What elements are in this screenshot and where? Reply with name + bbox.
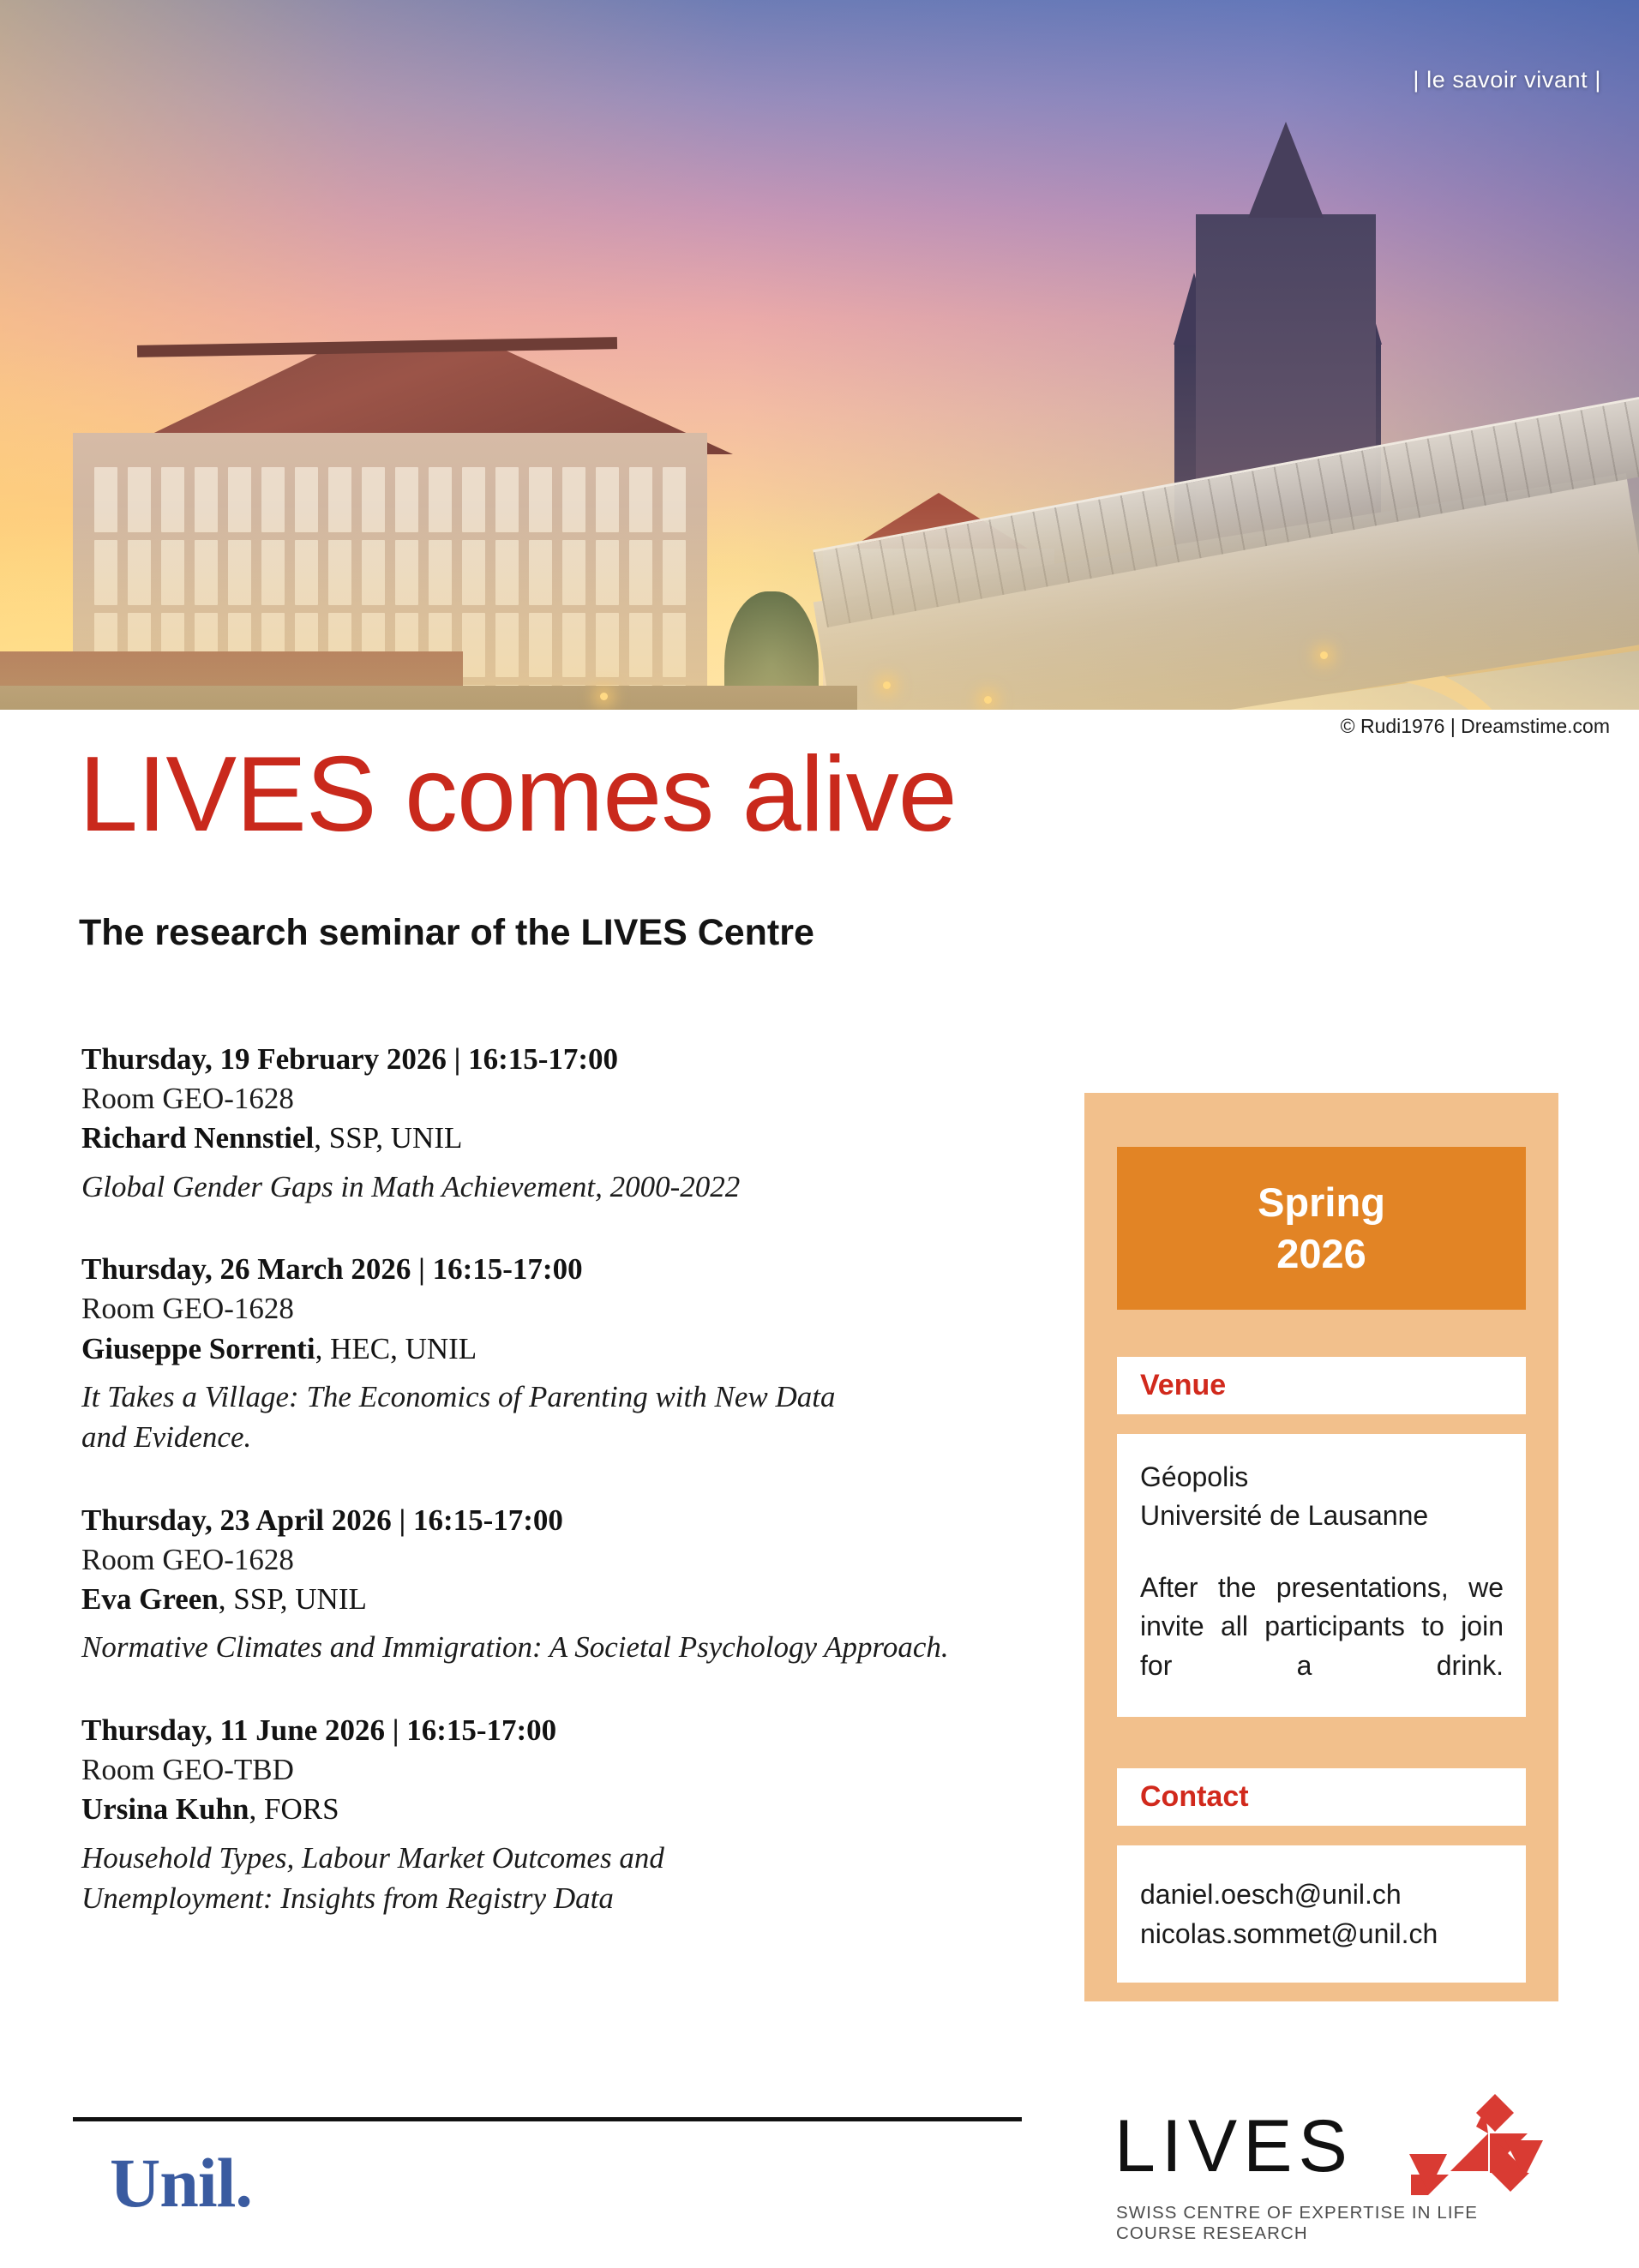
seminar-entry: Thursday, 11 June 2026 | 16:15-17:00 Roo…: [81, 1711, 1050, 1919]
street-lamp-icon: [883, 681, 891, 689]
seminar-entry: Thursday, 26 March 2026 | 16:15-17:00 Ro…: [81, 1250, 1050, 1458]
lives-logo-wordmark: LIVES: [1114, 2104, 1354, 2189]
speaker-affiliation: , SSP, UNIL: [219, 1582, 367, 1616]
hero-photo: | le savoir vivant |: [0, 0, 1639, 710]
speaker-affiliation: , HEC, UNIL: [315, 1332, 477, 1365]
venue-building: Géopolis: [1140, 1458, 1504, 1497]
contact-email-primary[interactable]: daniel.oesch@unil.ch: [1140, 1875, 1504, 1914]
street-lamp-icon: [600, 693, 608, 700]
page-title-rest: comes alive: [405, 735, 957, 854]
seminar-date: Thursday, 23 April 2026 | 16:15-17:00: [81, 1501, 1050, 1540]
speaker-name: Giuseppe Sorrenti: [81, 1332, 315, 1365]
seminar-room: Room GEO-1628: [81, 1079, 1050, 1119]
lives-running-figure-icon: [1402, 2092, 1548, 2195]
seminar-room: Room GEO-TBD: [81, 1750, 1050, 1790]
seminar-speaker: Giuseppe Sorrenti, HEC, UNIL: [81, 1329, 1050, 1369]
unil-logo: Unil.: [110, 2143, 252, 2223]
seminar-speaker: Ursina Kuhn, FORS: [81, 1790, 1050, 1829]
page-subtitle: The research seminar of the LIVES Centre: [79, 912, 814, 954]
season-year: 2026: [1276, 1231, 1366, 1277]
venue-drinks-note: After the presentations, we invite all p…: [1140, 1569, 1504, 1725]
photo-credit: © Rudi1976 | Dreamstime.com: [1341, 715, 1610, 738]
venue-institution: Université de Lausanne: [1140, 1497, 1504, 1535]
atmospheric-haze: [0, 504, 1639, 710]
unil-tagline: | le savoir vivant |: [1413, 67, 1601, 93]
season-badge: Spring 2026: [1117, 1147, 1526, 1310]
season-name: Spring: [1258, 1179, 1385, 1226]
seminar-speaker: Richard Nennstiel, SSP, UNIL: [81, 1119, 1050, 1158]
seminar-date: Thursday, 26 March 2026 | 16:15-17:00: [81, 1250, 1050, 1289]
seminar-talk-title: Household Types, Labour Market Outcomes …: [81, 1838, 836, 1919]
footer-divider: [73, 2117, 1022, 2121]
seminar-list: Thursday, 19 February 2026 | 16:15-17:00…: [81, 1040, 1050, 1962]
seminar-talk-title: It Takes a Village: The Economics of Par…: [81, 1377, 836, 1458]
contact-section-header: Contact: [1117, 1768, 1526, 1826]
speaker-name: Richard Nennstiel: [81, 1121, 314, 1155]
seminar-talk-title: Global Gender Gaps in Math Achievement, …: [81, 1167, 1042, 1208]
contact-email-secondary[interactable]: nicolas.sommet@unil.ch: [1140, 1914, 1504, 1953]
seminar-date: Thursday, 19 February 2026 | 16:15-17:00: [81, 1040, 1050, 1079]
lives-logo: LIVES SWISS CENTRE OF EXPERTISE IN LIFE …: [1114, 2104, 1543, 2250]
venue-section-body: Géopolis Université de Lausanne After th…: [1117, 1434, 1526, 1717]
speaker-affiliation: , SSP, UNIL: [314, 1121, 462, 1155]
street-lamp-icon: [1320, 651, 1328, 659]
page-title: LIVES comes alive: [79, 741, 957, 848]
seminar-talk-title: Normative Climates and Immigration: A So…: [81, 1627, 1037, 1668]
seminar-room: Room GEO-1628: [81, 1540, 1050, 1580]
street-lamp-icon: [984, 696, 992, 704]
lives-logo-tagline: SWISS CENTRE OF EXPERTISE IN LIFE COURSE…: [1116, 2203, 1543, 2244]
speaker-name: Eva Green: [81, 1582, 219, 1616]
seminar-entry: Thursday, 23 April 2026 | 16:15-17:00 Ro…: [81, 1501, 1050, 1668]
seminar-speaker: Eva Green, SSP, UNIL: [81, 1580, 1050, 1619]
page-title-brand: LIVES: [79, 735, 376, 854]
seminar-entry: Thursday, 19 February 2026 | 16:15-17:00…: [81, 1040, 1050, 1207]
seminar-room: Room GEO-1628: [81, 1289, 1050, 1329]
contact-section-body: daniel.oesch@unil.ch nicolas.sommet@unil…: [1117, 1845, 1526, 1983]
speaker-affiliation: , FORS: [249, 1792, 339, 1826]
speaker-name: Ursina Kuhn: [81, 1792, 249, 1826]
venue-section-header: Venue: [1117, 1357, 1526, 1414]
seminar-date: Thursday, 11 June 2026 | 16:15-17:00: [81, 1711, 1050, 1750]
